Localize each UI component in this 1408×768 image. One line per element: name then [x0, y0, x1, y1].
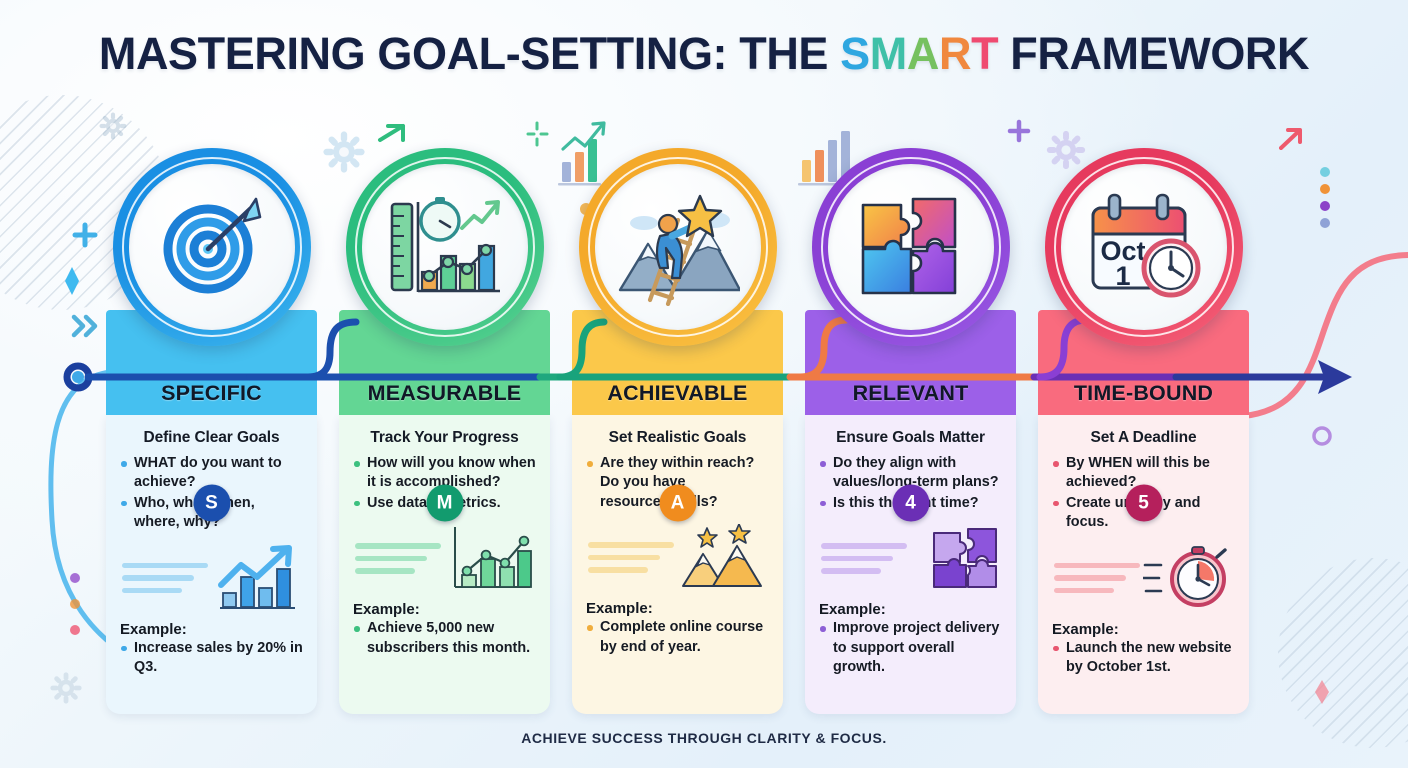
- medallion-face: [362, 164, 528, 330]
- sparkle-icon: [65, 267, 79, 295]
- timeline-start-dot: [67, 366, 89, 388]
- decorative-ring: [1314, 428, 1330, 444]
- step-badge-label: 5: [1138, 492, 1149, 514]
- column-subtitle: Define Clear Goals: [120, 429, 303, 447]
- gear-icon: [102, 115, 125, 138]
- example-item: Achieve 5,000 new subscribers this month…: [353, 619, 536, 658]
- example-item: Launch the new website by October 1st.: [1052, 639, 1235, 678]
- column-body: Ensure Goals Matter Do they align with v…: [805, 415, 1016, 714]
- step-badge-label: S: [205, 492, 218, 514]
- example-label: Example:: [353, 601, 536, 618]
- medallion-calendar-clock-icon[interactable]: Oct 1: [1045, 148, 1243, 346]
- medallion-jigsaw-puzzle-icon[interactable]: [812, 148, 1010, 346]
- line-bar-chart-icon: [448, 525, 534, 591]
- column-title: ACHIEVABLE: [607, 381, 747, 406]
- step-badge[interactable]: A: [659, 485, 696, 522]
- page-title: MASTERING GOAL-SETTING: THE SMART FRAMEW…: [0, 28, 1408, 80]
- decorative-dot: [1320, 201, 1330, 211]
- medallion-face: [828, 164, 994, 330]
- smart-columns: S SPECIFIC Define Clear Goals WHAT do yo…: [106, 148, 1302, 714]
- smart-column-time-bound[interactable]: Oct 1 5 TIME-BOUND Set A Deadline By WHE…: [1038, 148, 1249, 714]
- title-letter-m: M: [870, 28, 907, 79]
- mini-mountain-stars-icon: [681, 524, 767, 595]
- example-item: Increase sales by 20% in Q3.: [120, 639, 303, 678]
- step-badge-label: 4: [905, 492, 916, 514]
- column-examples: Achieve 5,000 new subscribers this month…: [353, 619, 536, 659]
- column-illustration: [586, 520, 769, 598]
- footer-tagline: ACHIEVE SUCCESS THROUGH CLARITY & FOCUS.: [0, 730, 1408, 746]
- column-illustration: [1052, 541, 1235, 619]
- column-examples: Launch the new website by October 1st.: [1052, 639, 1235, 679]
- placeholder-lines: [821, 543, 907, 581]
- step-badge[interactable]: 5: [1125, 485, 1162, 522]
- bar-chart-up-icon: [215, 545, 301, 611]
- column-subtitle: Set Realistic Goals: [586, 429, 769, 447]
- plus-icon: [1010, 122, 1028, 140]
- example-label: Example:: [120, 621, 303, 638]
- column-body: Define Clear Goals WHAT do you want to a…: [106, 415, 317, 714]
- smart-column-measurable[interactable]: M MEASURABLE Track Your Progress How wil…: [339, 148, 550, 714]
- medallion-face: [595, 164, 761, 330]
- smart-column-specific[interactable]: S SPECIFIC Define Clear Goals WHAT do yo…: [106, 148, 317, 714]
- svg-text:1: 1: [1115, 261, 1130, 291]
- column-title: TIME-BOUND: [1074, 381, 1213, 406]
- example-label: Example:: [586, 600, 769, 617]
- step-badge[interactable]: M: [426, 485, 463, 522]
- example-item: Improve project delivery to support over…: [819, 619, 1002, 677]
- plus-icon: [75, 225, 95, 245]
- column-title: MEASURABLE: [368, 381, 522, 406]
- step-badge[interactable]: S: [193, 485, 230, 522]
- medallion-ladder-climb-star-icon[interactable]: [579, 148, 777, 346]
- title-suffix: FRAMEWORK: [998, 28, 1309, 79]
- decorative-dot: [1320, 218, 1330, 228]
- sparkle-icon: [1315, 680, 1329, 704]
- step-badge-label: M: [437, 492, 453, 514]
- chevrons-right-icon: [74, 317, 95, 335]
- decorative-dot: [1320, 167, 1330, 177]
- target-arrow-icon: [152, 187, 272, 307]
- placeholder-lines: [122, 563, 208, 601]
- column-subtitle: Track Your Progress: [353, 429, 536, 447]
- column-illustration: [120, 541, 303, 619]
- column-subtitle: Set A Deadline: [1052, 429, 1235, 447]
- trend-arrow-icon: [388, 126, 403, 140]
- example-label: Example:: [1052, 621, 1235, 638]
- sparkle-icon: [528, 123, 547, 145]
- column-examples: Complete online course by end of year.: [586, 618, 769, 658]
- timeline-start-dot-inner: [72, 371, 84, 383]
- ladder-climb-star-icon: [616, 188, 740, 306]
- jigsaw-puzzle-icon: [853, 189, 969, 305]
- decorative-dot: [70, 625, 80, 635]
- title-prefix: MASTERING GOAL-SETTING: THE: [99, 28, 840, 79]
- stopwatch-icon: [1143, 545, 1233, 611]
- column-body: Set A Deadline By WHEN will this be achi…: [1038, 415, 1249, 714]
- mini-line-bar-chart-icon: [448, 525, 534, 596]
- example-label: Example:: [819, 601, 1002, 618]
- column-title: SPECIFIC: [161, 381, 262, 406]
- example-item: Complete online course by end of year.: [586, 618, 769, 657]
- column-examples: Increase sales by 20% in Q3.: [120, 639, 303, 679]
- column-title: RELEVANT: [853, 381, 969, 406]
- step-badge[interactable]: 4: [892, 485, 929, 522]
- smart-column-relevant[interactable]: 4 RELEVANT Ensure Goals Matter Do they a…: [805, 148, 1016, 714]
- ruler-stopwatch-chart-icon: [384, 188, 506, 306]
- medallion-face: [129, 164, 295, 330]
- medallion-ruler-stopwatch-chart-icon[interactable]: [346, 148, 544, 346]
- decorative-dot: [70, 573, 80, 583]
- gear-icon: [53, 675, 79, 701]
- medallion-target-arrow-icon[interactable]: [113, 148, 311, 346]
- column-body: Set Realistic Goals Are they within reac…: [572, 415, 783, 714]
- decorative-dot: [70, 599, 80, 609]
- title-letter-t: T: [971, 28, 998, 79]
- mountain-stars-icon: [681, 524, 767, 590]
- puzzle-pieces-icon: [930, 525, 1000, 591]
- title-letter-r: R: [939, 28, 971, 79]
- smart-column-achievable[interactable]: A ACHIEVABLE Set Realistic Goals Are the…: [572, 148, 783, 714]
- placeholder-lines: [355, 543, 441, 581]
- timeline-arrow-head: [1318, 360, 1352, 394]
- decorative-dot: [1320, 184, 1330, 194]
- title-letter-s: S: [840, 28, 870, 79]
- column-body: Track Your Progress How will you know wh…: [339, 415, 550, 714]
- placeholder-lines: [588, 542, 674, 580]
- placeholder-lines: [1054, 563, 1140, 601]
- infographic-canvas: MASTERING GOAL-SETTING: THE SMART FRAMEW…: [0, 0, 1408, 768]
- mini-stopwatch-icon: [1143, 545, 1233, 616]
- step-badge-label: A: [671, 492, 685, 514]
- mini-bar-chart-up-icon: [215, 545, 301, 616]
- column-subtitle: Ensure Goals Matter: [819, 429, 1002, 447]
- mini-puzzle-pieces-icon: [930, 525, 1000, 596]
- title-letter-a: A: [907, 28, 939, 79]
- trend-arrow-icon: [380, 126, 403, 140]
- trend-arrow-icon: [1281, 130, 1300, 148]
- calendar-clock-icon: Oct 1: [1083, 190, 1205, 304]
- column-illustration: [819, 521, 1002, 599]
- column-illustration: [353, 521, 536, 599]
- column-examples: Improve project delivery to support over…: [819, 619, 1002, 678]
- medallion-face: Oct 1: [1061, 164, 1227, 330]
